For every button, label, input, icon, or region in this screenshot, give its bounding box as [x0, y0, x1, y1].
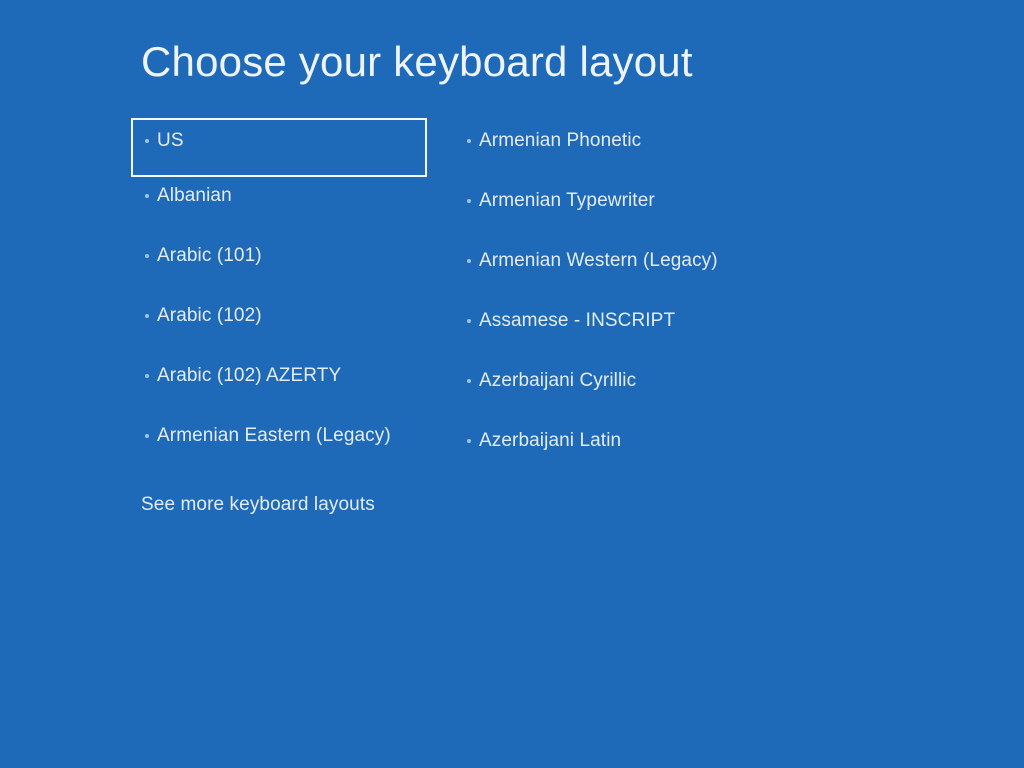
keyboard-layout-column-left: USAlbanianArabic (101)Arabic (102)Arabic…: [133, 120, 433, 475]
keyboard-layout-option[interactable]: Albanian: [133, 175, 433, 235]
keyboard-layout-option[interactable]: Azerbaijani Latin: [459, 420, 789, 480]
keyboard-layout-option[interactable]: Arabic (101): [133, 235, 433, 295]
keyboard-layout-option[interactable]: Armenian Phonetic: [459, 120, 789, 180]
keyboard-layout-option-label: Azerbaijani Cyrillic: [479, 369, 636, 393]
keyboard-layout-option-label: US: [157, 129, 184, 153]
page-title: Choose your keyboard layout: [141, 38, 693, 86]
keyboard-layout-option-label: Armenian Western (Legacy): [479, 249, 718, 273]
bullet-icon: [467, 199, 471, 203]
keyboard-layout-option-label: Arabic (102): [157, 304, 262, 328]
bullet-icon: [145, 374, 149, 378]
keyboard-layout-option[interactable]: Armenian Eastern (Legacy): [133, 415, 433, 475]
bullet-icon: [145, 434, 149, 438]
keyboard-layout-column-right: Armenian PhoneticArmenian TypewriterArme…: [459, 120, 789, 480]
bullet-icon: [467, 259, 471, 263]
bullet-icon: [467, 139, 471, 143]
keyboard-layout-option[interactable]: Armenian Typewriter: [459, 180, 789, 240]
keyboard-layout-option[interactable]: Assamese - INSCRIPT: [459, 300, 789, 360]
keyboard-layout-option-label: Azerbaijani Latin: [479, 429, 621, 453]
bullet-icon: [467, 319, 471, 323]
keyboard-layout-option-label: Armenian Typewriter: [479, 189, 655, 213]
keyboard-layout-option[interactable]: Armenian Western (Legacy): [459, 240, 789, 300]
keyboard-layout-option[interactable]: Arabic (102) AZERTY: [133, 355, 433, 415]
keyboard-layout-option-label: Assamese - INSCRIPT: [479, 309, 675, 333]
keyboard-layout-option[interactable]: US: [133, 120, 425, 175]
bullet-icon: [145, 314, 149, 318]
bullet-icon: [145, 139, 149, 143]
see-more-keyboard-layouts-link[interactable]: See more keyboard layouts: [141, 493, 375, 517]
keyboard-layout-option[interactable]: Arabic (102): [133, 295, 433, 355]
bullet-icon: [145, 194, 149, 198]
bullet-icon: [145, 254, 149, 258]
keyboard-layout-option-label: Arabic (102) AZERTY: [157, 364, 341, 388]
bullet-icon: [467, 379, 471, 383]
keyboard-layout-option-label: Armenian Phonetic: [479, 129, 641, 153]
bullet-icon: [467, 439, 471, 443]
keyboard-layout-screen: Choose your keyboard layout USAlbanianAr…: [0, 0, 1024, 768]
keyboard-layout-option-label: Arabic (101): [157, 244, 262, 268]
keyboard-layout-option-label: Albanian: [157, 184, 232, 208]
keyboard-layout-option-label: Armenian Eastern (Legacy): [157, 424, 391, 448]
keyboard-layout-option[interactable]: Azerbaijani Cyrillic: [459, 360, 789, 420]
